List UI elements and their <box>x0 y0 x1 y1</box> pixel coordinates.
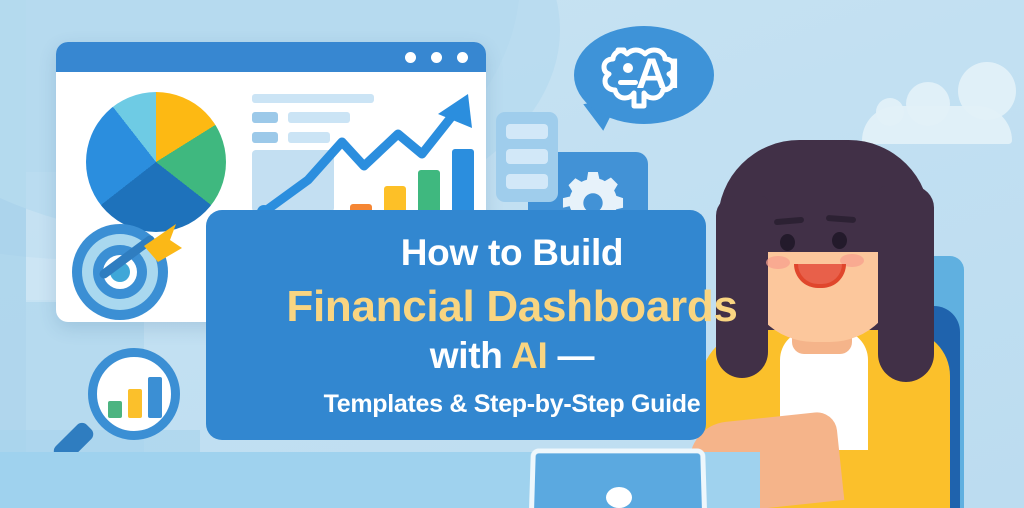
window-dot-3[interactable] <box>457 52 468 63</box>
title-line-3-pre: with <box>430 335 511 376</box>
pie-chart <box>86 92 226 232</box>
ai-bubble-label: AI <box>636 50 681 99</box>
title-line-3: with AI — <box>0 337 1024 374</box>
banner-subtitle: Templates & Step-by-Step Guide <box>0 392 1024 417</box>
ai-speech-bubble: AI <box>574 26 714 124</box>
list-row-1 <box>506 124 548 139</box>
laptop-logo <box>606 487 632 508</box>
cloud-icon-top-right-puff3 <box>876 98 904 126</box>
list-row-2 <box>506 149 548 164</box>
cloud-icon-top-right-puff <box>958 62 1016 120</box>
list-panel <box>496 112 558 202</box>
hero-banner: AI How to Build Financial Dashboards wit… <box>0 0 1024 508</box>
title-line-3-accent: AI <box>511 335 547 376</box>
window-dot-1[interactable] <box>405 52 416 63</box>
title-line-2: Financial Dashboards <box>0 285 1024 329</box>
title-line-1: How to Build <box>0 234 1024 271</box>
title-line-3-post: — <box>548 335 595 376</box>
list-row-3 <box>506 174 548 189</box>
cloud-icon-top-right-puff2 <box>906 82 950 126</box>
window-dot-2[interactable] <box>431 52 442 63</box>
window-titlebar <box>56 42 486 72</box>
